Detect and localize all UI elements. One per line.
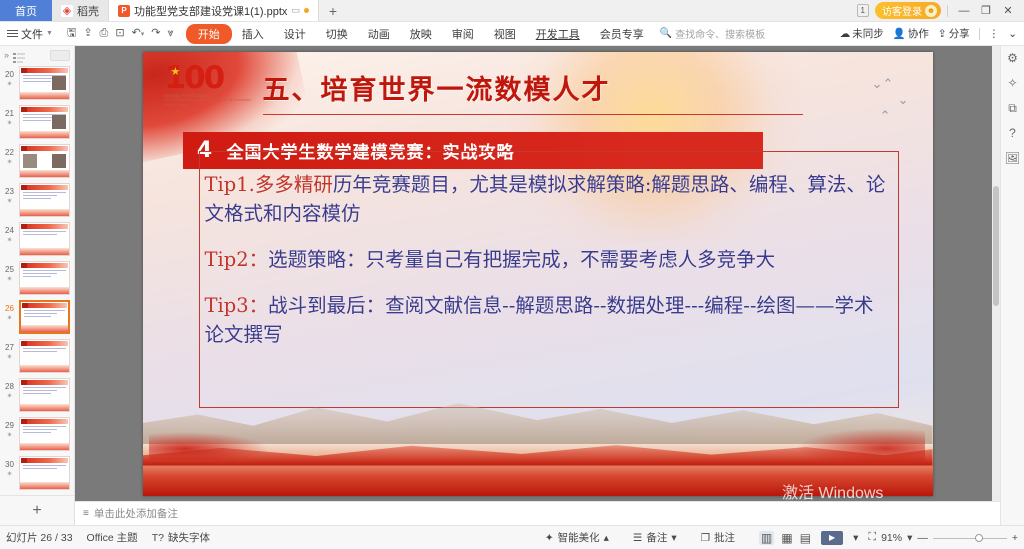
slide-thumbnail-panel: » 20 ✶ 21 ✶ [0,46,75,525]
scrollbar-thumb[interactable] [993,186,999,306]
thumbnail-preview [19,144,70,178]
notes-toggle-icon: ☰ [633,532,642,544]
slide-sorter-icon[interactable]: ▦ [781,531,792,545]
tab-slideshow[interactable]: 放映 [400,24,442,44]
more-options-icon[interactable]: ⋮ [989,28,1000,40]
tip-1-highlight: 多多精研 [255,173,333,196]
share-button[interactable]: ⇪ 分享 [938,26,970,41]
theme-indicator[interactable]: Office 主题 [87,530,138,545]
tab-start[interactable]: 开始 [186,24,232,44]
cloud-sync-icon: ☁ [840,28,851,40]
slide-canvas-area: 100 ★ 庆祝中国共产党成立100周年 For 100th Anniversa… [75,46,1000,501]
slide-number: 26 [2,304,17,314]
thumbnail-meta: 25 ✶ [2,261,17,284]
thumbnail-preview [19,261,70,295]
slide-vertical-scrollbar[interactable] [992,46,1000,501]
tip-3-text: 战斗到最后：查阅文献信息--解题思路--数据处理---编程--绘图——学术论文撰… [205,294,874,346]
thumbnail-meta: 23 ✶ [2,183,17,206]
tip-3-label: Tip3： [205,294,269,317]
save-as-cloud-icon[interactable]: ⇪ [83,28,92,39]
missing-font-indicator[interactable]: T? 缺失字体 [152,530,210,545]
bird-icon: ⌃ [880,108,909,124]
thumbnail-meta: 27 ✶ [2,339,17,362]
slide-number: 27 [2,343,17,353]
slide-counter-label: 幻灯片 26 / 33 [6,530,73,545]
outline-view-icon[interactable] [13,50,26,60]
thumbnail-meta: 20 ✶ [2,66,17,89]
beautify-label: 智能美化 [558,530,600,545]
help-question-icon[interactable]: ? [1009,127,1016,139]
hamburger-icon [7,30,18,37]
thumbnail-preview [19,300,70,334]
status-bar-right-group: ✦ 智能美化 ▴ ☰ 备注 ▾ ❐ 批注 ▥ ▦ ▤ ▶ ▾ [545,530,1018,545]
thumbnail-item-22[interactable]: 22 ✶ [0,142,74,181]
ribbon-search[interactable]: 🔍 查找命令、搜索模板 [660,26,765,41]
thumbnail-item-23[interactable]: 23 ✶ [0,181,74,220]
zoom-controls: ⛶ 91% ▾ — + [868,531,1018,544]
pptx-file-icon: P [118,5,130,17]
zoom-slider-track [933,538,1007,539]
screen-share-icon[interactable]: ⧉ [1008,102,1017,114]
thumbnail-meta: 30 ✶ [2,456,17,479]
add-slide-button[interactable]: + [32,502,41,520]
divider [979,28,980,40]
tab-label-pptx: 功能型党支部建设党课1(1).pptx [134,3,287,19]
ribbon-bar: 文件 ▼ 🖫 ⇪ ⎙ ⊡ ↶▾ ↷ ⩔ 开始 插入 设计 切换 动画 放映 审阅… [0,22,1024,46]
view-mode-buttons: ▥ ▦ ▤ [759,531,811,545]
sync-status-label: 未同步 [852,26,884,41]
tab-transition[interactable]: 切换 [316,24,358,44]
decorative-ribbon-left [149,432,269,460]
tab-design[interactable]: 设计 [274,24,316,44]
thumbnail-meta: 26 ✶ [2,300,17,323]
tip-line-3: Tip3：战斗到最后：查阅文献信息--解题思路--数据处理---编程--绘图——… [205,291,889,349]
thumbnail-preview [19,339,70,373]
expand-panel-icon[interactable]: » [4,50,9,60]
tab-insert[interactable]: 插入 [232,24,274,44]
print-preview-icon[interactable]: ⊡ [115,28,124,39]
document-tab-docer[interactable]: ◈ 稻壳 [52,0,109,21]
fit-to-window-icon[interactable]: ⛶ [868,531,876,544]
animation-star-icon: ✶ [2,353,17,362]
slide-number: 20 [2,70,17,80]
slide-number: 22 [2,148,17,158]
docer-icon: ◈ [61,5,73,17]
thumbnail-meta: 24 ✶ [2,222,17,245]
notes-toggle-button[interactable]: ☰ 备注 ▾ [633,530,677,545]
zoom-in-button[interactable]: + [1012,532,1018,544]
star-icon: ★ [171,65,181,78]
thumbnail-item-26[interactable]: 26 ✶ [0,298,74,337]
reading-view-icon[interactable]: ▤ [800,531,811,545]
document-tab-pptx[interactable]: P 功能型党支部建设党课1(1).pptx ▭ [109,0,319,21]
thumbnail-item-27[interactable]: 27 ✶ [0,337,74,376]
thumbnail-list[interactable]: 20 ✶ 21 ✶ [0,64,74,495]
animation-star-icon: ✶ [2,431,17,440]
window-controls: — ❐ ✕ [954,2,1018,20]
beautify-icon: ✦ [545,532,554,544]
start-slideshow-button[interactable]: ▶ [821,531,843,545]
tip-1-label: Tip1. [205,173,255,196]
chevron-down-icon: ▼ [46,30,53,37]
thumbnail-size-button[interactable] [50,50,70,61]
animation-star-icon: ✶ [2,236,17,245]
slide-number: 21 [2,109,17,119]
file-menu-button[interactable]: 文件 ▼ [0,26,59,42]
tab-view[interactable]: 视图 [484,24,526,44]
current-slide[interactable]: 100 ★ 庆祝中国共产党成立100周年 For 100th Anniversa… [143,52,933,496]
avatar-icon: ☻ [925,5,937,17]
redo-icon[interactable]: ↷ [151,28,160,39]
comment-label: 批注 [714,530,735,545]
bird-icon: ⌄ [898,92,909,108]
minimize-button[interactable]: — [954,2,974,20]
zoom-level-label[interactable]: 91% [881,532,902,544]
undo-icon[interactable]: ↶▾ [132,28,145,39]
slider-settings-icon[interactable]: ⚙ [1007,52,1018,64]
new-tab-button[interactable]: + [319,0,347,21]
thumbnail-item-30[interactable]: 30 ✶ [0,454,74,493]
right-tool-sidebar: ⚙ ✧ ⧉ ? 🖼 [1000,46,1024,525]
guest-login-label: 访客登录 [882,3,922,18]
thumbnail-preview [19,183,70,217]
decorative-birds: ⌄⌃ ⌄ ⌃ [872,76,909,124]
slideshow-caret-icon[interactable]: ▾ [853,532,858,544]
animation-star-icon: ✶ [2,392,17,401]
animation-star-icon: ✶ [2,158,17,167]
thumbnail-preview [19,417,70,451]
animation-star-icon: ✶ [2,80,17,89]
thumbnail-item-29[interactable]: 29 ✶ [0,415,74,454]
title-bar: 首页 ◈ 稻壳 P 功能型党支部建设党课1(1).pptx ▭ + 1 访客登录… [0,0,1024,22]
thumbnail-item-25[interactable]: 25 ✶ [0,259,74,298]
tab-label-docer: 稻壳 [77,3,99,19]
titlebar-right-group: 1 访客登录 ☻ — ❐ ✕ [857,0,1024,21]
collaborate-label: 协作 [908,26,929,41]
home-tab-label: 首页 [15,3,37,19]
slide-number: 28 [2,382,17,392]
tip-line-1: Tip1.多多精研历年竞赛题目，尤其是模拟求解策略:解题思路、编程、算法、论文格… [205,170,889,228]
ribbon-tabs: 开始 插入 设计 切换 动画 放映 审阅 视图 开发工具 会员专享 [186,24,654,44]
animation-star-icon: ✶ [2,275,17,284]
thumbnail-meta: 21 ✶ [2,105,17,128]
zoom-out-button[interactable]: — [917,532,928,544]
divider [947,5,948,17]
slide-number: 29 [2,421,17,431]
picture-icon[interactable]: 🖼 [1005,152,1020,164]
play-icon: ▶ [829,533,835,542]
title-underline [263,114,803,116]
notes-caret-icon: ▾ [671,532,676,544]
thumbnail-item-21[interactable]: 21 ✶ [0,103,74,142]
tip-2-label: Tip2： [205,248,269,271]
thumbnail-item-28[interactable]: 28 ✶ [0,376,74,415]
maximize-button[interactable]: ❐ [976,2,996,20]
zoom-slider-knob[interactable] [975,534,983,542]
notes-toggle-label: 备注 [646,530,667,545]
thumbnail-panel-footer: + [0,495,74,525]
collaborate-button[interactable]: 👤 协作 [893,26,929,41]
collaborate-icon: 👤 [893,27,906,40]
slide-counter[interactable]: 幻灯片 26 / 33 [6,530,73,545]
thumbnail-panel-header: » [0,46,74,64]
save-icon[interactable]: 🖫 [67,28,76,39]
bird-icon: ⌄⌃ [872,76,909,92]
guest-login-button[interactable]: 访客登录 ☻ [875,2,941,19]
tab-developer-tools[interactable]: 开发工具 [526,24,590,44]
share-icon: ⇪ [938,28,947,40]
animation-star-icon: ✶ [2,197,17,206]
comment-button[interactable]: ❐ 批注 [701,530,735,545]
slide-number: 25 [2,265,17,275]
thumbnail-preview [19,378,70,412]
theme-label: Office 主题 [87,530,138,545]
tip-line-2: Tip2：选题策略：只考量自己有把握完成，不需要考虑人多竞争大 [205,245,889,274]
ribbon-right-group: ☁ 未同步 👤 协作 ⇪ 分享 ⋮ ⌄ [840,26,1024,41]
thumbnail-meta: 28 ✶ [2,378,17,401]
plus-icon: + [329,3,337,19]
thumbnail-item-24[interactable]: 24 ✶ [0,220,74,259]
thumbnail-preview [19,222,70,256]
zoom-caret-icon[interactable]: ▾ [907,532,912,544]
smart-beautify-button[interactable]: ✦ 智能美化 ▴ [545,530,609,545]
close-button[interactable]: ✕ [998,2,1018,20]
thumbnail-preview [19,456,70,490]
tab-review[interactable]: 审阅 [442,24,484,44]
notes-icon: ≡ [83,508,89,519]
search-icon: 🔍 [660,28,672,39]
status-bar: 幻灯片 26 / 33 Office 主题 T? 缺失字体 ✦ 智能美化 ▴ ☰… [0,525,1024,549]
tab-animation[interactable]: 动画 [358,24,400,44]
slide-number: 24 [2,226,17,236]
slide-number: 23 [2,187,17,197]
read-only-icon: ▭ [291,5,300,16]
home-tab[interactable]: 首页 [0,0,52,21]
thumbnail-item-20[interactable]: 20 ✶ [0,64,74,103]
tip-2-text: 选题策略：只考量自己有把握完成，不需要考虑人多竞争大 [268,248,775,271]
thumbnail-preview [19,105,70,139]
sync-status-button[interactable]: ☁ 未同步 [840,26,884,41]
zoom-slider[interactable] [933,532,1007,544]
missing-font-label: 缺失字体 [168,530,210,545]
thumbnail-meta: 29 ✶ [2,417,17,440]
logo-caption-en: For 100th Anniversary of the Founding of… [165,98,255,107]
file-menu-label: 文件 [21,26,43,42]
search-placeholder: 查找命令、搜索模板 [675,26,765,41]
wps-presentation-window: 首页 ◈ 稻壳 P 功能型党支部建设党课1(1).pptx ▭ + 1 访客登录… [0,0,1024,549]
notes-pane[interactable]: ≡ 单击此处添加备注 [75,501,1000,525]
customize-qat-icon[interactable]: ⩔ [168,28,174,39]
print-icon[interactable]: ⎙ [100,28,109,39]
magic-star-icon[interactable]: ✧ [1007,77,1017,89]
party-centenary-logo: 100 ★ 庆祝中国共产党成立100周年 For 100th Anniversa… [165,62,255,114]
collapse-ribbon-icon[interactable]: ⌄ [1008,28,1017,40]
thumbnail-preview [19,66,70,100]
animation-star-icon: ✶ [2,119,17,128]
share-label: 分享 [949,26,970,41]
decorative-ribbon-right [795,428,925,462]
beautify-caret-icon: ▴ [604,532,609,544]
unsaved-dot-icon [304,8,309,13]
normal-view-icon[interactable]: ▥ [759,531,774,545]
comment-icon: ❐ [701,532,710,544]
slide-number: 30 [2,460,17,470]
animation-star-icon: ✶ [2,314,17,323]
window-count-badge[interactable]: 1 [857,4,869,17]
slide-title: 五、培育世界一流数模人才 [263,68,611,107]
notes-placeholder: 单击此处添加备注 [94,506,178,521]
quick-access-toolbar: 🖫 ⇪ ⎙ ⊡ ↶▾ ↷ ⩔ [59,28,182,39]
tab-member-exclusive[interactable]: 会员专享 [590,24,654,44]
missing-font-icon: T? [152,532,164,544]
thumbnail-meta: 22 ✶ [2,144,17,167]
slide-body-text[interactable]: Tip1.多多精研历年竞赛题目，尤其是模拟求解策略:解题思路、编程、算法、论文格… [205,170,889,366]
animation-star-icon: ✶ [2,470,17,479]
